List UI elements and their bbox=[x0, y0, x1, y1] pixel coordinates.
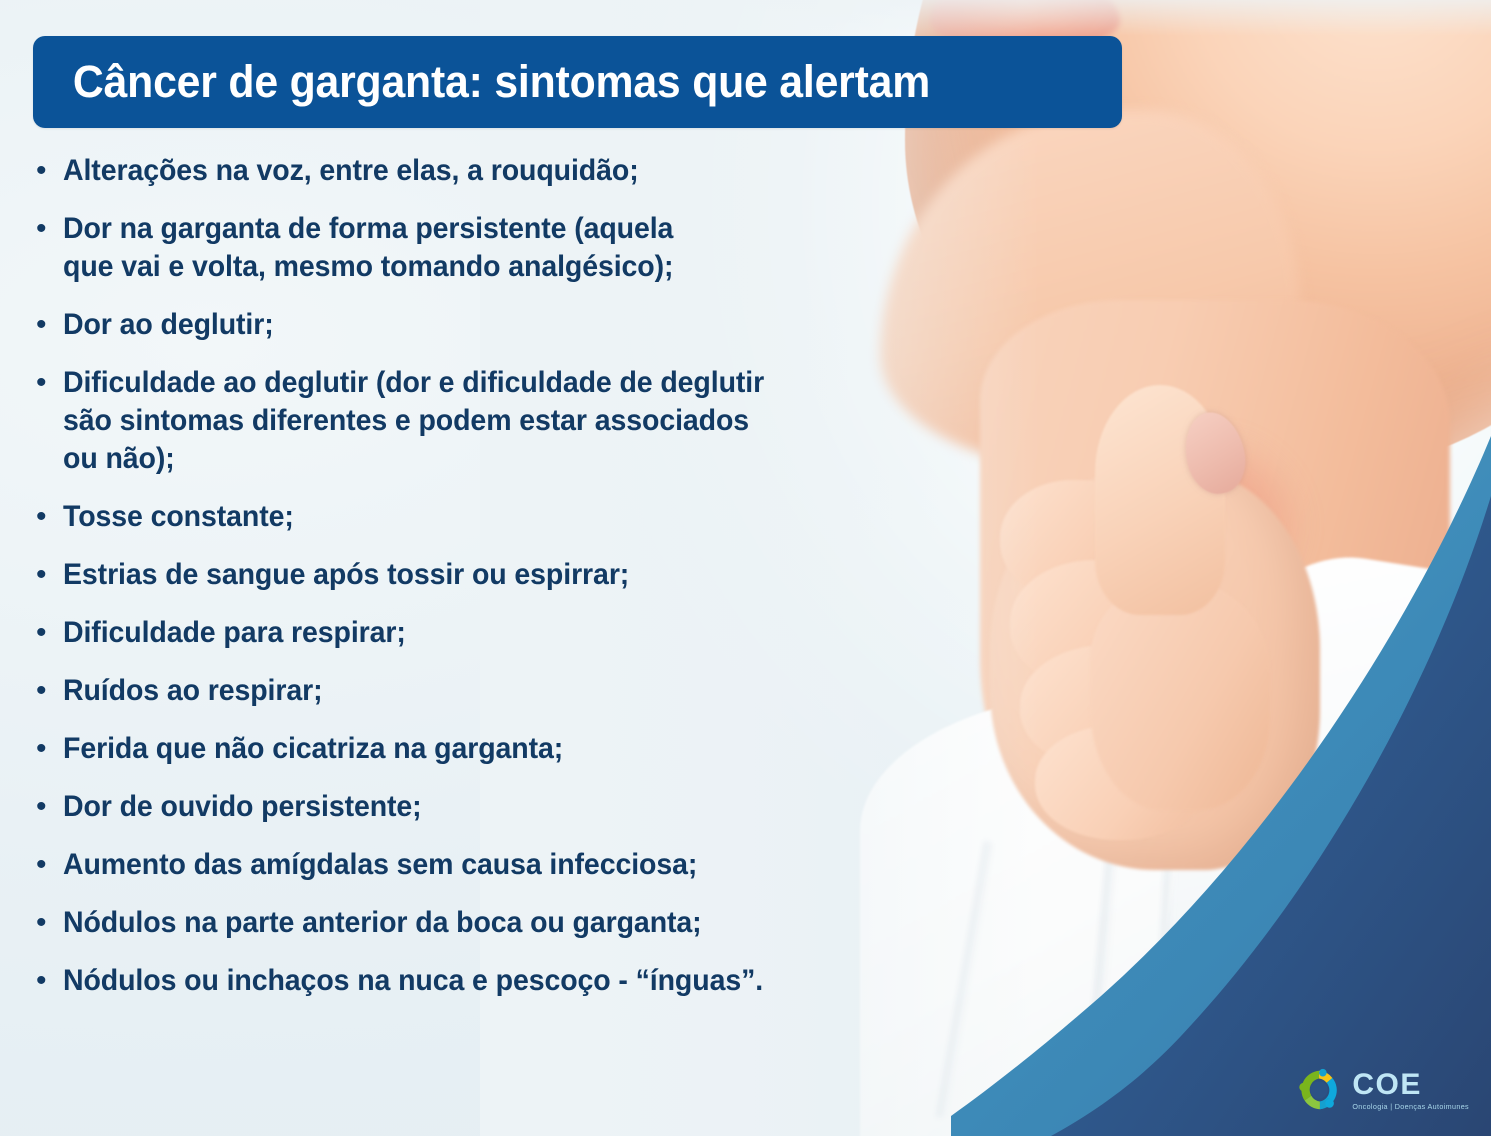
coe-logo-tagline: Oncologia | Doenças Autoimunes bbox=[1352, 1103, 1469, 1110]
symptom-item: •Nódulos na parte anterior da boca ou ga… bbox=[33, 904, 933, 942]
symptom-text: Tosse constante; bbox=[63, 498, 294, 536]
coe-logo-name: COE bbox=[1352, 1070, 1469, 1100]
coe-logo-text: COE Oncologia | Doenças Autoimunes bbox=[1352, 1070, 1469, 1110]
coe-logo-mark bbox=[1295, 1066, 1343, 1114]
symptom-item: •Dificuldade para respirar; bbox=[33, 614, 933, 652]
symptom-text: Ferida que não cicatriza na garganta; bbox=[63, 730, 563, 768]
symptom-item: •Dor de ouvido persistente; bbox=[33, 788, 933, 826]
bullet-icon: • bbox=[33, 788, 63, 826]
bullet-icon: • bbox=[33, 152, 63, 190]
symptom-item: •Alterações na voz, entre elas, a rouqui… bbox=[33, 152, 933, 190]
bullet-icon: • bbox=[33, 672, 63, 710]
symptom-text: Nódulos ou inchaços na nuca e pescoço - … bbox=[63, 962, 763, 1000]
symptom-text: Ruídos ao respirar; bbox=[63, 672, 323, 710]
bullet-icon: • bbox=[33, 846, 63, 884]
bullet-icon: • bbox=[33, 556, 63, 594]
symptom-text: Aumento das amígdalas sem causa infeccio… bbox=[63, 846, 697, 884]
bullet-icon: • bbox=[33, 730, 63, 768]
bullet-icon: • bbox=[33, 364, 63, 402]
symptom-item: •Dificuldade ao deglutir (dor e dificuld… bbox=[33, 364, 933, 478]
symptom-text: Dificuldade ao deglutir (dor e dificulda… bbox=[63, 364, 764, 478]
slide-canvas: Câncer de garganta: sintomas que alertam… bbox=[0, 0, 1491, 1136]
symptom-item: •Nódulos ou inchaços na nuca e pescoço -… bbox=[33, 962, 933, 1000]
symptom-text: Dor ao deglutir; bbox=[63, 306, 274, 344]
symptom-item: •Tosse constante; bbox=[33, 498, 933, 536]
symptom-text: Alterações na voz, entre elas, a rouquid… bbox=[63, 152, 639, 190]
bullet-icon: • bbox=[33, 498, 63, 536]
bullet-icon: • bbox=[33, 306, 63, 344]
symptom-item: •Dor ao deglutir; bbox=[33, 306, 933, 344]
symptom-text: Dificuldade para respirar; bbox=[63, 614, 406, 652]
bullet-icon: • bbox=[33, 210, 63, 248]
symptom-text: Dor de ouvido persistente; bbox=[63, 788, 422, 826]
symptom-item: •Aumento das amígdalas sem causa infecci… bbox=[33, 846, 933, 884]
bullet-icon: • bbox=[33, 614, 63, 652]
symptom-item: •Estrias de sangue após tossir ou espirr… bbox=[33, 556, 933, 594]
page-title: Câncer de garganta: sintomas que alertam bbox=[33, 56, 930, 108]
symptom-item: •Ruídos ao respirar; bbox=[33, 672, 933, 710]
symptom-list: •Alterações na voz, entre elas, a rouqui… bbox=[33, 152, 933, 1020]
symptom-text: Estrias de sangue após tossir ou espirra… bbox=[63, 556, 629, 594]
symptom-text: Nódulos na parte anterior da boca ou gar… bbox=[63, 904, 702, 942]
symptom-item: •Dor na garganta de forma persistente (a… bbox=[33, 210, 933, 286]
coe-logo: COE Oncologia | Doenças Autoimunes bbox=[1295, 1066, 1469, 1114]
symptom-text: Dor na garganta de forma persistente (aq… bbox=[63, 210, 673, 286]
bullet-icon: • bbox=[33, 904, 63, 942]
photo-top-fade bbox=[0, 0, 1491, 36]
bullet-icon: • bbox=[33, 962, 63, 1000]
symptom-item: •Ferida que não cicatriza na garganta; bbox=[33, 730, 933, 768]
title-banner: Câncer de garganta: sintomas que alertam bbox=[33, 36, 1122, 128]
